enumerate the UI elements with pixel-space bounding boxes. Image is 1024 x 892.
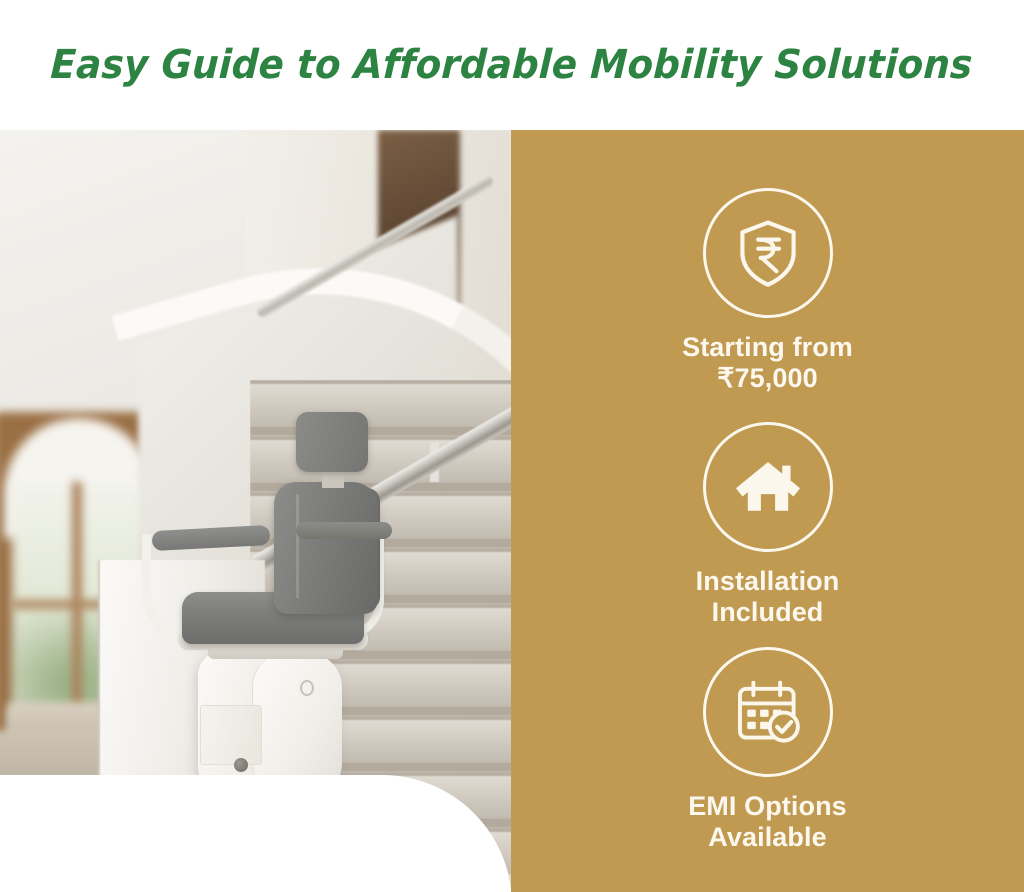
promo-card: VINGRACE Starting from ₹75,000 — [0, 130, 1024, 892]
backrest-cushion — [274, 482, 378, 614]
feature-starting-price: Starting from ₹75,000 — [511, 188, 1024, 394]
house-badge — [703, 422, 833, 552]
backrest-seam — [296, 494, 299, 598]
house-icon — [730, 449, 806, 525]
brand-plate — [0, 775, 512, 892]
stairlift-brand-mark — [300, 680, 314, 696]
features-panel: Starting from ₹75,000 Installation Inclu… — [511, 130, 1024, 892]
feature-label: Installation Included — [696, 566, 840, 628]
headrest-cushion — [296, 412, 368, 472]
shield-rupee-badge — [703, 188, 833, 318]
feature-label: Starting from ₹75,000 — [682, 332, 853, 394]
feature-emi: EMI Options Available — [511, 647, 1024, 853]
calendar-check-badge — [703, 647, 833, 777]
page-title: Easy Guide to Affordable Mobility Soluti… — [50, 42, 974, 88]
feature-label: EMI Options Available — [688, 791, 847, 853]
armrest-left — [152, 525, 271, 551]
header-bar: Easy Guide to Affordable Mobility Soluti… — [0, 0, 1024, 130]
shield-rupee-icon — [729, 214, 807, 292]
armrest-right — [296, 522, 392, 539]
stairlift-knob — [234, 758, 248, 772]
feature-installation: Installation Included — [511, 422, 1024, 628]
calendar-check-icon — [729, 673, 807, 751]
stairlift-access-panel — [200, 705, 262, 765]
